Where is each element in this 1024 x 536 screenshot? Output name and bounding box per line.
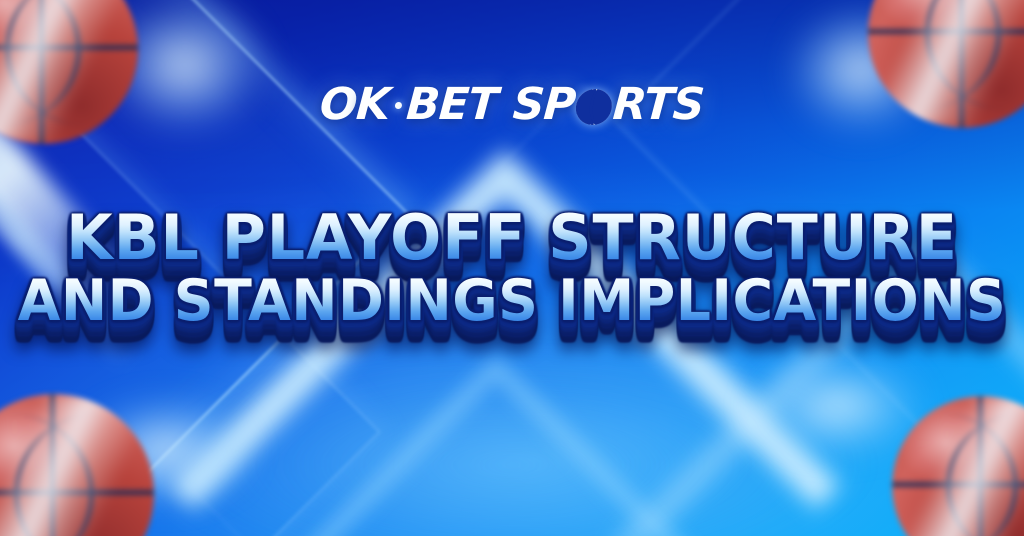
basketball-bottom-left-glow — [40, 376, 290, 526]
brand-logo-sports-prefix: SP — [512, 83, 577, 127]
basketball-top-right-glow — [756, 0, 966, 160]
basketball-top-left-glow — [70, 0, 300, 160]
brand-logo-okbet-prefix: O — [319, 83, 358, 127]
basketball-bottom-right-glow — [712, 336, 962, 476]
brand-logo-okbet-k: K — [355, 83, 391, 127]
ball-seam-vertical — [978, 396, 983, 536]
ball-seam-curve-right — [946, 414, 1024, 536]
ball-seam-curve-left — [892, 414, 1018, 536]
headline-line-1: KBL PLAYOFF STRUCTURE — [15, 208, 1008, 268]
ball-seam-horizontal — [0, 490, 154, 495]
ball-seam-curve-right — [588, 89, 613, 125]
brand-logo-okbet-suffix: BET — [405, 83, 499, 127]
center-glow — [22, 300, 1002, 536]
basketball-bottom-right-icon — [892, 396, 1024, 536]
promo-banner: OKBET SPRTS KBL PLAYOFF STRUCTURE AND ST… — [0, 0, 1024, 536]
ball-highlight — [892, 396, 1024, 536]
basketball-bottom-left-icon — [0, 394, 154, 536]
brand-logo-dot-separator-icon — [394, 102, 401, 109]
ball-skin — [0, 394, 154, 536]
brand-logo-sports-suffix: RTS — [612, 83, 706, 127]
ball-seam-horizontal — [868, 29, 1024, 34]
brand-logo-sports: SPRTS — [512, 83, 706, 127]
ball-seam-curve-left — [0, 414, 94, 536]
headline-line-2: AND STANDINGS IMPLICATIONS — [15, 274, 1008, 329]
ball-seam-vertical — [50, 394, 55, 536]
ball-seam-curve-right — [14, 414, 154, 536]
brand-logo-okbet: OKBET — [319, 83, 499, 127]
ball-highlight — [0, 394, 154, 536]
ball-seam-horizontal — [0, 45, 138, 50]
basketball-icon — [575, 89, 614, 125]
headline-block: KBL PLAYOFF STRUCTURE AND STANDINGS IMPL… — [0, 208, 1024, 328]
ball-seam-horizontal — [892, 482, 1024, 487]
ball-skin — [892, 396, 1024, 536]
chevron-bottom-center-inner-icon — [244, 356, 747, 536]
brand-logo[interactable]: OKBET SPRTS — [0, 83, 1024, 127]
